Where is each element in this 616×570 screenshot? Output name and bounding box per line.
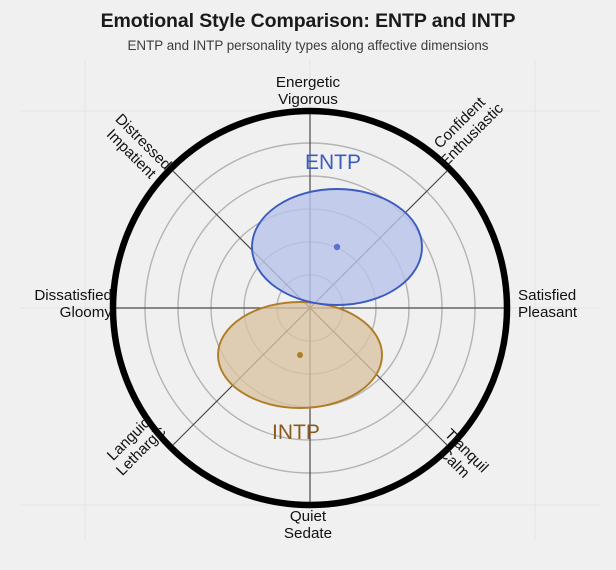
axis-label-line2: Pleasant	[518, 304, 616, 321]
axis-label-line1: Dissatisfied	[34, 287, 112, 304]
axis-label-line2: Sedate	[0, 525, 616, 542]
series-ellipse-entp	[252, 189, 422, 305]
axis-label-line1: Energetic	[276, 74, 340, 91]
series-ellipse-intp	[218, 302, 382, 408]
series-center-dot-entp	[334, 244, 340, 250]
axis-label-line1: Quiet	[290, 508, 326, 525]
series-label-entp: ENTP	[305, 151, 361, 175]
series-center-dot-intp	[297, 352, 303, 358]
axis-label-line2: Vigorous	[0, 91, 616, 108]
axis-label-line1: Satisfied	[518, 287, 576, 304]
axis-label-quiet-sedate: Quiet Sedate	[0, 508, 616, 542]
axis-label-line2: Gloomy	[4, 304, 112, 321]
axis-label-energetic-vigorous: Energetic Vigorous	[0, 74, 616, 108]
series-label-intp: INTP	[272, 421, 320, 445]
axis-label-dissatisfied-gloomy: Dissatisfied Gloomy	[4, 287, 112, 321]
chart-root: Emotional Style Comparison: ENTP and INT…	[0, 0, 616, 570]
axis-label-satisfied-pleasant: Satisfied Pleasant	[518, 287, 616, 321]
